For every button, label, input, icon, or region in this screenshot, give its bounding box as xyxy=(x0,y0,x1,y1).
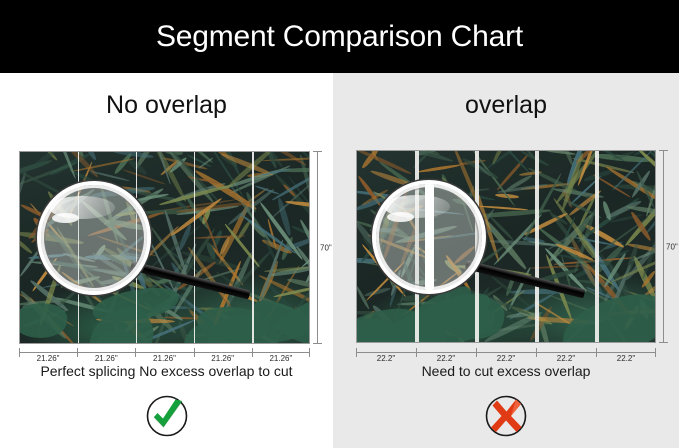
leaf-stroke xyxy=(370,227,399,231)
leaf-stroke xyxy=(356,150,412,175)
leaf-stroke xyxy=(547,234,575,252)
leaf-stroke xyxy=(220,151,274,177)
leaf-stroke xyxy=(586,286,614,299)
leaf-stroke xyxy=(388,272,401,308)
leaf-stroke xyxy=(522,237,545,244)
caption-no-overlap: Perfect splicing No excess overlap to cu… xyxy=(0,363,333,379)
leaf-stroke xyxy=(440,176,466,204)
leaf-stroke xyxy=(365,261,405,302)
leaf-stroke xyxy=(197,267,242,283)
leaf-stroke xyxy=(264,266,310,273)
leaf-stroke xyxy=(165,151,184,156)
leaf-stroke xyxy=(276,167,310,172)
leaf-stroke xyxy=(203,151,245,199)
leaf-stroke xyxy=(48,152,91,177)
segment-width-label: 22.2" xyxy=(416,354,476,363)
leaf-stroke xyxy=(101,251,131,268)
leaf-stroke xyxy=(585,262,632,316)
leaf-stroke xyxy=(226,290,244,325)
leaf-stroke xyxy=(573,157,635,174)
leaf-stroke xyxy=(635,150,656,181)
leaf-stroke xyxy=(604,241,623,250)
leaf-stroke xyxy=(367,321,417,332)
frond-shape xyxy=(416,289,493,331)
leaf-stroke xyxy=(500,150,530,173)
leaf-stroke xyxy=(364,287,391,298)
leaf-stroke xyxy=(170,261,187,284)
leaf-stroke xyxy=(168,156,187,174)
panel-heading-overlap: overlap xyxy=(333,91,679,120)
leaf-stroke xyxy=(573,236,613,246)
leaf-stroke xyxy=(245,191,257,213)
leaf-stroke xyxy=(637,297,656,334)
leaf-stroke xyxy=(403,325,435,343)
leaf-stroke xyxy=(106,287,121,323)
leaf-stroke xyxy=(81,266,119,298)
leaf-stroke xyxy=(414,272,459,302)
dimension-line xyxy=(317,151,318,344)
leaf-stroke xyxy=(561,188,573,209)
leaf-stroke xyxy=(356,218,411,241)
leaf-stroke xyxy=(194,235,245,239)
leaf-stroke xyxy=(524,212,569,237)
leaf-stroke xyxy=(123,314,143,334)
leaf-stroke xyxy=(454,263,531,277)
leaf-stroke xyxy=(497,183,547,193)
segment-width-label: 21.26" xyxy=(194,354,252,363)
leaf-stroke xyxy=(576,256,605,296)
leaf-stroke xyxy=(159,304,184,322)
leaf-stroke xyxy=(184,194,211,231)
segment-width-label: 21.26" xyxy=(252,354,310,363)
leaf-stroke xyxy=(629,210,652,241)
leaf-stroke xyxy=(605,199,643,220)
leaf-stroke xyxy=(248,219,267,239)
leaf-stroke xyxy=(552,197,601,261)
leaf-stroke xyxy=(608,263,633,314)
leaf-stroke xyxy=(625,237,656,281)
mural-figure-no-overlap: 70" xyxy=(19,151,310,344)
segment-width-label: 22.2" xyxy=(536,354,596,363)
leaf-stroke xyxy=(472,289,526,328)
leaf-stroke xyxy=(430,229,498,241)
segment-comparison-page: Segment Comparison Chart No overlap xyxy=(0,0,679,448)
leaf-stroke xyxy=(19,158,53,176)
frond-shape xyxy=(78,299,163,344)
leaf-stroke xyxy=(521,172,562,243)
leaf-stroke xyxy=(491,275,530,306)
page-title: Segment Comparison Chart xyxy=(156,20,523,54)
page-header: Segment Comparison Chart xyxy=(0,0,679,73)
leaf-stroke xyxy=(151,272,225,287)
leaf-stroke xyxy=(505,174,533,193)
leaf-stroke xyxy=(171,268,202,315)
leaf-stroke xyxy=(377,198,409,243)
leaf-stroke xyxy=(378,160,435,202)
leaf-stroke xyxy=(361,236,382,261)
mural-image-no-overlap xyxy=(19,151,310,344)
leaf-stroke xyxy=(32,151,57,169)
leaf-stroke xyxy=(176,200,255,213)
leaf-stroke xyxy=(82,151,97,162)
leaf-stroke xyxy=(254,185,280,195)
height-label-no-overlap: 70" xyxy=(320,243,332,252)
leaf-stroke xyxy=(19,243,44,276)
leaf-stroke xyxy=(30,227,49,243)
leaf-stroke xyxy=(372,198,396,259)
segment-width-label: 22.2" xyxy=(356,354,416,363)
leaf-stroke xyxy=(120,255,146,325)
check-icon xyxy=(144,393,190,439)
leaf-stroke xyxy=(489,239,558,246)
panel-overlap: overlap xyxy=(333,73,679,448)
leaf-stroke xyxy=(396,204,424,218)
leaf-stroke xyxy=(38,187,96,233)
leaf-stroke xyxy=(210,260,242,332)
leaf-stroke xyxy=(360,309,376,325)
leaf-stroke xyxy=(546,293,618,323)
leaf-stroke xyxy=(200,208,210,225)
leaf-stroke xyxy=(632,150,656,157)
leaf-stroke xyxy=(60,271,105,306)
leaf-stroke xyxy=(185,334,207,338)
overlap-seam-line xyxy=(595,151,599,342)
leaf-stroke xyxy=(186,154,211,168)
frond-shape xyxy=(90,320,164,344)
leaf-stroke xyxy=(233,289,260,304)
leaf-stroke xyxy=(226,250,272,298)
leaf-stroke xyxy=(492,294,508,312)
leaf-stroke xyxy=(67,162,92,219)
leaf-stroke xyxy=(159,158,179,176)
leaf-stroke xyxy=(215,270,262,304)
leaf-stroke xyxy=(418,244,435,286)
leaf-stroke xyxy=(371,304,398,332)
leaf-stroke xyxy=(21,307,68,328)
leaf-stroke xyxy=(22,301,40,310)
leaf-stroke xyxy=(151,151,171,184)
leaf-stroke xyxy=(150,308,170,344)
leaf-stroke xyxy=(381,188,410,262)
leaf-stroke xyxy=(371,224,395,289)
leaf-stroke xyxy=(130,319,195,344)
leaf-stroke xyxy=(272,171,310,231)
leaf-stroke xyxy=(128,261,148,281)
leaf-stroke xyxy=(612,150,635,160)
leaf-stroke xyxy=(641,208,656,279)
leaf-stroke xyxy=(161,282,220,327)
leaf-stroke xyxy=(176,204,238,215)
leaf-stroke xyxy=(93,267,142,278)
leaf-stroke xyxy=(163,210,188,277)
leaf-stroke xyxy=(389,269,402,297)
leaf-stroke xyxy=(219,236,231,255)
dimension-tick xyxy=(313,151,322,152)
leaf-stroke xyxy=(47,193,88,209)
leaf-stroke xyxy=(362,189,389,206)
leaf-stroke xyxy=(609,213,643,223)
leaf-stroke xyxy=(457,318,474,327)
leaf-stroke xyxy=(31,256,58,291)
leaf-stroke xyxy=(80,199,129,242)
leaf-stroke xyxy=(43,258,105,274)
overlap-seam-line xyxy=(535,151,539,342)
verdict-check-no-overlap xyxy=(144,393,190,439)
leaf-stroke xyxy=(631,254,656,302)
leaf-stroke xyxy=(147,275,178,300)
leaf-stroke xyxy=(293,305,310,338)
panel-heading-no-overlap: No overlap xyxy=(0,91,333,120)
leaf-stroke xyxy=(624,243,639,279)
leaf-stroke xyxy=(554,242,593,262)
leaf-stroke xyxy=(473,208,552,219)
leaf-stroke xyxy=(639,298,650,319)
leaf-stroke xyxy=(572,318,608,329)
leaf-stroke xyxy=(196,325,211,340)
leaf-stroke xyxy=(558,150,573,167)
leaf-stroke xyxy=(101,286,161,315)
leaf-stroke xyxy=(19,289,75,328)
leaf-stroke xyxy=(50,151,77,180)
leaf-stroke xyxy=(101,323,152,338)
leaf-stroke xyxy=(580,233,622,294)
leaf-stroke xyxy=(205,241,217,260)
leaf-stroke xyxy=(68,168,115,194)
leaf-stroke xyxy=(471,188,490,192)
leaf-stroke xyxy=(359,150,378,161)
leaf-stroke xyxy=(577,279,609,286)
leaf-stroke xyxy=(444,254,471,291)
leaf-stroke xyxy=(71,157,135,172)
leaf-stroke xyxy=(521,182,569,190)
leaf-stroke xyxy=(179,295,192,313)
leaf-stroke xyxy=(115,245,162,297)
leaf-stroke xyxy=(19,161,76,187)
leaf-stroke xyxy=(288,175,310,221)
leaf-stroke xyxy=(369,208,414,244)
leaf-stroke xyxy=(118,186,151,195)
segment-width-label: 21.26" xyxy=(135,354,193,363)
leaf-stroke xyxy=(461,284,504,312)
leaf-stroke xyxy=(19,298,68,306)
leaf-stroke xyxy=(127,158,148,177)
leaf-stroke xyxy=(225,223,261,267)
dimension-tick xyxy=(313,343,322,344)
leaf-stroke xyxy=(591,153,651,164)
leaf-stroke xyxy=(214,317,241,334)
leaf-stroke xyxy=(109,151,154,159)
leaf-stroke xyxy=(36,221,72,249)
leaf-stroke xyxy=(444,292,472,343)
leaf-stroke xyxy=(267,218,278,250)
leaf-stroke xyxy=(43,278,91,289)
dimension-tick xyxy=(659,150,668,151)
leaf-stroke xyxy=(272,168,310,201)
frond-shape xyxy=(556,286,656,343)
leaf-stroke xyxy=(265,280,304,325)
leaf-stroke xyxy=(230,164,291,194)
leaf-stroke xyxy=(32,216,52,237)
leaf-stroke xyxy=(369,169,419,191)
leaf-stroke xyxy=(453,245,476,266)
mural-image-overlap xyxy=(356,150,656,343)
mural-figure-overlap: 70" xyxy=(356,150,656,343)
leaf-stroke xyxy=(214,309,278,344)
leaf-stroke xyxy=(170,181,227,204)
leaf-stroke xyxy=(113,151,133,174)
leaf-stroke xyxy=(250,151,307,167)
butt-seam-line xyxy=(194,152,196,343)
leaf-stroke xyxy=(496,153,529,190)
leaf-stroke xyxy=(208,243,244,286)
leaf-stroke xyxy=(133,193,169,202)
leaf-stroke xyxy=(557,216,575,253)
leaf-stroke xyxy=(139,207,216,215)
leaf-stroke xyxy=(459,188,475,232)
leaf-stroke xyxy=(376,150,440,157)
leaf-stroke xyxy=(153,275,178,286)
leaf-stroke xyxy=(268,263,310,278)
leaf-stroke xyxy=(357,259,380,266)
leaf-stroke xyxy=(19,203,50,221)
panel-no-overlap: No overlap 70" xyxy=(0,73,333,448)
frond-shape xyxy=(263,289,310,344)
leaf-stroke xyxy=(187,176,220,185)
leaf-stroke xyxy=(361,150,381,170)
leaf-stroke xyxy=(146,151,188,203)
leaf-stroke xyxy=(424,302,445,343)
leaf-stroke xyxy=(224,252,254,311)
leaf-stroke xyxy=(19,171,27,203)
leaf-stroke xyxy=(356,221,378,250)
leaf-stroke xyxy=(273,274,310,337)
leaf-stroke xyxy=(259,239,284,301)
leaf-stroke xyxy=(280,236,295,261)
leaf-stroke xyxy=(160,244,202,277)
leaf-stroke xyxy=(282,236,310,253)
dimension-tick xyxy=(659,342,668,343)
leaf-stroke xyxy=(477,320,556,333)
leaf-stroke xyxy=(149,225,189,279)
leaf-stroke xyxy=(177,224,192,252)
leaf-stroke xyxy=(607,308,656,316)
leaf-stroke xyxy=(635,170,655,209)
leaf-stroke xyxy=(423,322,471,341)
leaf-stroke xyxy=(554,256,633,264)
leaf-stroke xyxy=(582,222,625,250)
leaf-stroke xyxy=(137,226,180,268)
leaf-stroke xyxy=(261,297,281,317)
leaf-stroke xyxy=(112,222,133,261)
leaf-stroke xyxy=(81,288,95,309)
leaf-stroke xyxy=(610,253,656,283)
leaf-stroke xyxy=(124,194,140,231)
frond-shape xyxy=(249,291,310,344)
leaf-stroke xyxy=(242,188,268,208)
segment-width-label: 21.26" xyxy=(19,354,77,363)
leaf-stroke xyxy=(395,192,431,209)
leaf-stroke xyxy=(300,216,310,269)
leaf-stroke xyxy=(641,270,656,289)
leaf-stroke xyxy=(163,243,197,315)
leaf-stroke xyxy=(622,303,640,331)
leaf-stroke xyxy=(631,235,656,262)
frond-shape xyxy=(19,301,69,341)
leaf-stroke xyxy=(96,235,156,257)
leaf-stroke xyxy=(440,174,450,191)
leaf-stroke xyxy=(623,185,656,247)
leaf-stroke xyxy=(78,272,123,329)
leaf-stroke xyxy=(612,150,654,191)
leaf-stroke xyxy=(104,217,152,232)
leaf-stroke xyxy=(110,316,120,334)
leaf-stroke xyxy=(356,257,382,264)
leaf-stroke xyxy=(491,150,512,165)
leaf-stroke xyxy=(262,156,310,161)
leaf-stroke xyxy=(29,278,70,312)
leaf-stroke xyxy=(616,150,656,169)
dimension-line xyxy=(19,352,310,353)
leaf-stroke xyxy=(159,306,192,309)
leaf-stroke xyxy=(644,206,656,236)
leaf-stroke xyxy=(198,306,236,311)
leaf-stroke xyxy=(270,179,310,219)
leaf-stroke xyxy=(256,223,279,268)
leaf-stroke xyxy=(548,209,578,246)
leaf-stroke xyxy=(40,151,58,161)
leaf-stroke xyxy=(458,159,486,166)
leaf-stroke xyxy=(508,267,531,310)
leaf-stroke xyxy=(366,318,390,343)
leaf-stroke xyxy=(509,150,539,162)
leaf-stroke xyxy=(197,151,238,167)
leaf-stroke xyxy=(560,152,585,211)
leaf-stroke xyxy=(265,265,301,322)
leaf-stroke xyxy=(29,260,97,267)
leaf-stroke xyxy=(356,310,384,315)
segment-width-label: 22.2" xyxy=(596,354,656,363)
leaf-stroke xyxy=(634,150,656,197)
frond-shape xyxy=(383,302,497,343)
leaf-stroke xyxy=(624,293,643,323)
leaf-stroke xyxy=(509,289,582,295)
comparison-panels: No overlap 70" xyxy=(0,73,679,448)
leaf-stroke xyxy=(399,245,416,278)
leaf-stroke xyxy=(204,308,223,326)
leaf-stroke xyxy=(28,253,67,260)
leaf-stroke xyxy=(490,216,514,241)
leaf-stroke xyxy=(482,218,528,271)
leaf-stroke xyxy=(359,215,401,264)
leaf-stroke xyxy=(219,153,238,168)
leaf-stroke xyxy=(29,296,78,344)
overlap-seam-line xyxy=(415,151,419,342)
leaf-stroke xyxy=(361,244,407,298)
frond-shape xyxy=(436,290,506,342)
leaf-stroke xyxy=(291,225,310,236)
frond-shape xyxy=(356,305,422,343)
leaf-stroke xyxy=(198,157,214,169)
leaf-stroke xyxy=(262,151,283,168)
leaf-stroke xyxy=(379,332,447,338)
leaf-stroke xyxy=(236,220,252,241)
leaf-stroke xyxy=(85,254,139,260)
leaf-stroke xyxy=(261,168,291,177)
butt-seam-line xyxy=(252,152,254,343)
leaf-stroke xyxy=(91,251,128,277)
leaf-stroke xyxy=(356,189,411,200)
leaf-stroke xyxy=(128,324,160,344)
